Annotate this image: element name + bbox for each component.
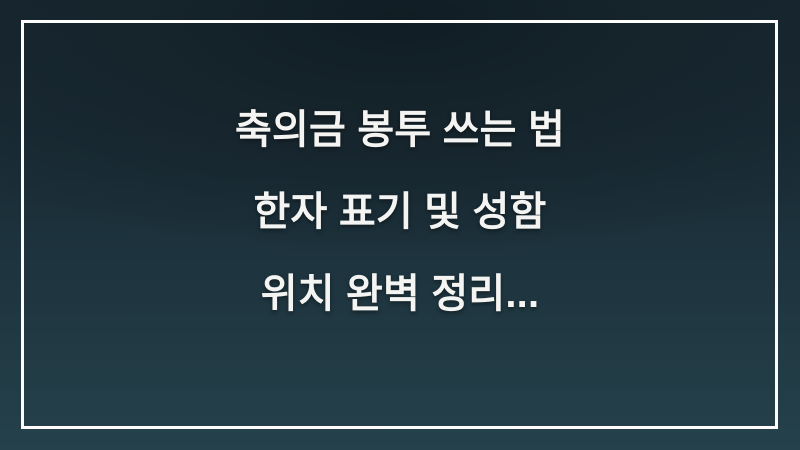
card-content: 축의금 봉투 쓰는 법 한자 표기 및 성함 위치 완벽 정리...	[0, 0, 800, 450]
title-block: 축의금 봉투 쓰는 법 한자 표기 및 성함 위치 완벽 정리...	[52, 89, 748, 335]
title-line-1: 축의금 봉투 쓰는 법	[52, 89, 748, 171]
title-line-2: 한자 표기 및 성함	[52, 171, 748, 253]
title-line-3: 위치 완벽 정리...	[52, 253, 748, 335]
thumbnail-card: 축의금 봉투 쓰는 법 한자 표기 및 성함 위치 완벽 정리...	[0, 0, 800, 450]
